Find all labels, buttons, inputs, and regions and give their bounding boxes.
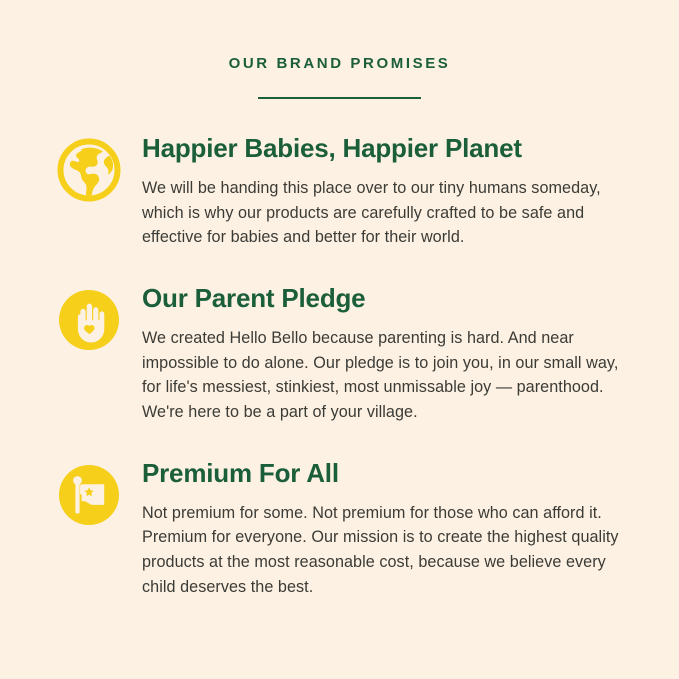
promises-list: Happier Babies, Happier Planet We will b… <box>0 134 679 599</box>
promise-item-premium-for-all: Premium For All Not premium for some. No… <box>57 459 621 600</box>
promise-content: Premium For All Not premium for some. No… <box>121 459 621 600</box>
promise-text: We created Hello Bello because parenting… <box>142 326 620 425</box>
promise-item-happier-babies: Happier Babies, Happier Planet We will b… <box>57 134 621 250</box>
flag-star-icon <box>57 463 121 527</box>
promise-heading: Our Parent Pledge <box>142 284 621 313</box>
promise-heading: Happier Babies, Happier Planet <box>142 134 621 163</box>
promise-content: Happier Babies, Happier Planet We will b… <box>121 134 621 250</box>
brand-promises-page: OUR BRAND PROMISES Happier Babies, Happi… <box>0 0 679 679</box>
promise-content: Our Parent Pledge We created Hello Bello… <box>121 284 621 425</box>
promise-text: Not premium for some. Not premium for th… <box>142 501 620 600</box>
promise-heading: Premium For All <box>142 459 621 488</box>
header-divider <box>258 97 421 99</box>
promise-item-parent-pledge: Our Parent Pledge We created Hello Bello… <box>57 284 621 425</box>
page-title: OUR BRAND PROMISES <box>0 56 679 71</box>
promise-text: We will be handing this place over to ou… <box>142 176 620 250</box>
hand-heart-icon <box>57 288 121 352</box>
globe-icon <box>57 138 121 202</box>
page-header: OUR BRAND PROMISES <box>0 0 679 99</box>
